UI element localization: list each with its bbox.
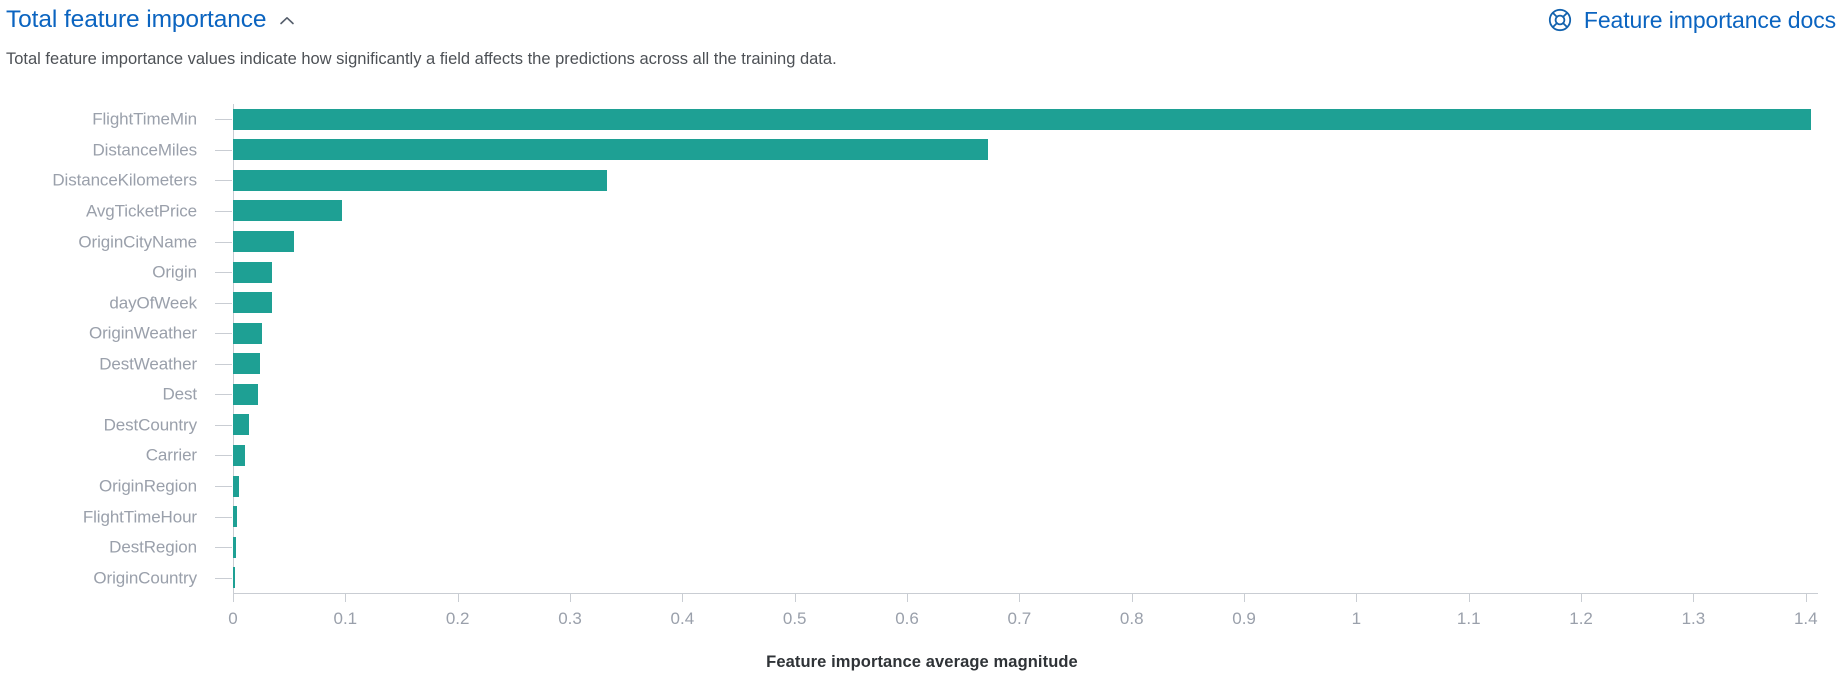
x-axis-tick-label: 0: [228, 610, 237, 627]
bar-row[interactable]: [233, 323, 1817, 344]
x-axis-tick: [458, 593, 459, 602]
bar-row[interactable]: [233, 200, 1817, 221]
x-axis-tick-label: 0.3: [558, 610, 582, 627]
y-axis-tick: [215, 547, 232, 548]
bar[interactable]: [233, 262, 272, 283]
bar-row[interactable]: [233, 109, 1817, 130]
y-axis-label: dayOfWeek: [109, 294, 197, 311]
x-axis-tick-label: 0.6: [895, 610, 919, 627]
bar-row[interactable]: [233, 506, 1817, 527]
y-axis-label: FlightTimeHour: [83, 508, 197, 525]
bar-row[interactable]: [233, 384, 1817, 405]
x-axis-tick: [1132, 593, 1133, 602]
panel-description: Total feature importance values indicate…: [6, 48, 837, 70]
x-axis-tick-label: 0.1: [334, 610, 358, 627]
bar-row[interactable]: [233, 445, 1817, 466]
bar[interactable]: [233, 384, 258, 405]
x-axis-tick-label: 0.5: [783, 610, 807, 627]
y-axis-labels: FlightTimeMinDistanceMilesDistanceKilome…: [0, 104, 233, 593]
bar-row[interactable]: [233, 262, 1817, 283]
x-axis-tick: [1581, 593, 1582, 602]
bar[interactable]: [233, 567, 235, 588]
y-axis-label: Origin: [152, 264, 197, 281]
x-axis-tick: [1244, 593, 1245, 602]
y-axis-tick: [215, 150, 232, 151]
x-axis-tick: [907, 593, 908, 602]
y-axis-tick: [215, 303, 232, 304]
x-axis-tick: [1806, 593, 1807, 602]
chevron-up-icon[interactable]: [277, 11, 297, 31]
bar[interactable]: [233, 323, 262, 344]
y-axis-label: DistanceKilometers: [52, 172, 197, 189]
y-axis-label: DestWeather: [99, 355, 197, 372]
x-axis-tick-label: 1.4: [1794, 610, 1818, 627]
y-axis-label: OriginRegion: [99, 478, 197, 495]
y-axis-label: AvgTicketPrice: [86, 202, 197, 219]
x-axis-tick: [1019, 593, 1020, 602]
x-axis-tick-label: 0.9: [1232, 610, 1256, 627]
total-feature-importance-panel: Total feature importance Feature importa…: [0, 0, 1844, 680]
y-axis-tick: [215, 364, 232, 365]
feature-importance-docs-link[interactable]: Feature importance docs: [1547, 7, 1836, 34]
bar[interactable]: [233, 231, 294, 252]
y-axis-label: OriginWeather: [89, 325, 197, 342]
bar[interactable]: [233, 170, 607, 191]
bar[interactable]: [233, 476, 239, 497]
docs-link-label: Feature importance docs: [1584, 7, 1836, 34]
x-axis-tick-label: 1.3: [1682, 610, 1706, 627]
panel-title-toggle[interactable]: Total feature importance: [6, 8, 297, 33]
feature-importance-chart: FlightTimeMinDistanceMilesDistanceKilome…: [0, 96, 1844, 680]
y-axis-tick: [215, 211, 232, 212]
panel-header: Total feature importance Feature importa…: [0, 0, 1844, 40]
x-axis-tick-label: 0.8: [1120, 610, 1144, 627]
page-title: Total feature importance: [6, 8, 266, 33]
y-axis-tick: [215, 119, 232, 120]
bar-row[interactable]: [233, 414, 1817, 435]
x-axis-tick-label: 0.7: [1008, 610, 1032, 627]
y-axis-tick: [215, 333, 232, 334]
y-axis-tick: [215, 242, 232, 243]
bar[interactable]: [233, 537, 236, 558]
bar[interactable]: [233, 414, 249, 435]
bar-row[interactable]: [233, 567, 1817, 588]
y-axis-label: OriginCountry: [93, 569, 197, 586]
x-axis-tick-label: 1.2: [1569, 610, 1593, 627]
bars-container: [233, 104, 1817, 593]
x-axis-title: Feature importance average magnitude: [0, 653, 1844, 672]
y-axis-tick: [215, 272, 232, 273]
y-axis-label: Carrier: [146, 447, 197, 464]
bar[interactable]: [233, 292, 272, 313]
y-axis-label: DestCountry: [104, 416, 197, 433]
life-ring-help-icon: [1547, 7, 1573, 33]
x-axis-tick: [233, 593, 234, 602]
y-axis-tick: [215, 517, 232, 518]
y-axis-tick: [215, 180, 232, 181]
bar[interactable]: [233, 353, 260, 374]
y-axis-label: FlightTimeMin: [92, 111, 197, 128]
y-axis-label: OriginCityName: [78, 233, 197, 250]
bar[interactable]: [233, 445, 245, 466]
x-axis-tick: [1356, 593, 1357, 602]
y-axis-tick: [215, 455, 232, 456]
bar-row[interactable]: [233, 476, 1817, 497]
y-axis-label: DistanceMiles: [92, 141, 197, 158]
x-axis-tick-label: 0.4: [671, 610, 695, 627]
y-axis-tick: [215, 394, 232, 395]
bar-row[interactable]: [233, 353, 1817, 374]
x-axis-tick: [795, 593, 796, 602]
bar-row[interactable]: [233, 170, 1817, 191]
bar[interactable]: [233, 109, 1811, 130]
x-axis-tick: [570, 593, 571, 602]
bar[interactable]: [233, 506, 237, 527]
bar[interactable]: [233, 139, 988, 160]
x-axis-tick: [682, 593, 683, 602]
x-axis-tick-label: 1.1: [1457, 610, 1481, 627]
y-axis-tick: [215, 425, 232, 426]
y-axis-tick: [215, 486, 232, 487]
x-axis-ticks: 00.10.20.30.40.50.60.70.80.911.11.21.31.…: [0, 593, 1844, 653]
y-axis-label: Dest: [162, 386, 197, 403]
x-axis-tick: [1469, 593, 1470, 602]
x-axis-tick-label: 1: [1352, 610, 1361, 627]
bar-row[interactable]: [233, 231, 1817, 252]
x-axis-tick: [1693, 593, 1694, 602]
x-axis-tick-label: 0.2: [446, 610, 470, 627]
bar-row[interactable]: [233, 292, 1817, 313]
y-axis-tick: [215, 578, 232, 579]
bar-row[interactable]: [233, 537, 1817, 558]
x-axis-tick: [345, 593, 346, 602]
bar-row[interactable]: [233, 139, 1817, 160]
y-axis-label: DestRegion: [109, 539, 197, 556]
bar[interactable]: [233, 200, 342, 221]
